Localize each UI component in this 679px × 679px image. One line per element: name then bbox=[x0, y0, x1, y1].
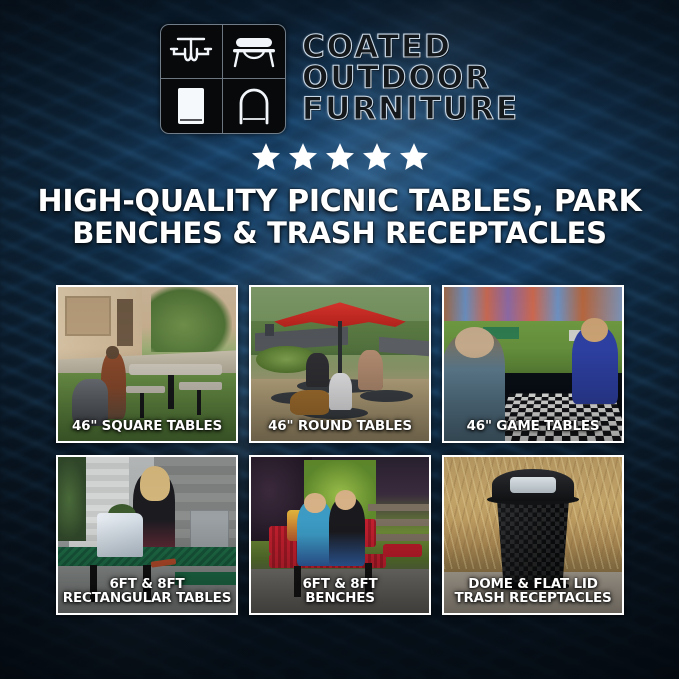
brand-wordmark: COATED OUTDOOR FURNITURE bbox=[302, 32, 519, 126]
product-tile-trash-receptacles[interactable]: DOME & FLAT LID TRASH RECEPTACLES bbox=[442, 455, 624, 615]
product-tile-square-tables[interactable]: 46" SQUARE TABLES bbox=[56, 285, 238, 443]
picnic-table-icon bbox=[161, 25, 223, 79]
bench-icon bbox=[223, 25, 285, 79]
banner-content: COATED OUTDOOR FURNITURE HIGH-QUALITY PI… bbox=[0, 0, 679, 679]
star-icon bbox=[289, 143, 317, 170]
star-icon bbox=[400, 143, 428, 170]
wordmark-line-2: OUTDOOR bbox=[302, 63, 519, 93]
product-tile-rectangular-tables[interactable]: 6FT & 8FT RECTANGULAR TABLES bbox=[56, 455, 238, 615]
star-icon bbox=[363, 143, 391, 170]
product-photo bbox=[251, 457, 429, 613]
trash-receptacle-icon bbox=[161, 79, 223, 133]
headline-line-2: BENCHES & TRASH RECEPTACLES bbox=[28, 218, 651, 249]
product-tile-round-tables[interactable]: 46" ROUND TABLES bbox=[249, 285, 431, 443]
promotional-banner: COATED OUTDOOR FURNITURE HIGH-QUALITY PI… bbox=[0, 0, 679, 679]
product-photo bbox=[444, 287, 622, 441]
product-photo bbox=[58, 457, 236, 613]
wordmark-line-3: FURNITURE bbox=[302, 94, 519, 124]
star-icon bbox=[326, 143, 354, 170]
star-rating bbox=[0, 136, 679, 176]
brand-logo: COATED OUTDOOR FURNITURE bbox=[0, 0, 679, 134]
headline: HIGH-QUALITY PICNIC TABLES, PARK BENCHES… bbox=[0, 186, 679, 249]
headline-line-1: HIGH-QUALITY PICNIC TABLES, PARK bbox=[28, 186, 651, 218]
product-tile-game-tables[interactable]: 46" GAME TABLES bbox=[442, 285, 624, 443]
product-photo bbox=[58, 287, 236, 441]
product-tile-grid: 46" SQUARE TABLES 46" ROUND TA bbox=[56, 285, 623, 615]
product-photo bbox=[251, 287, 429, 441]
wordmark-line-1: COATED bbox=[302, 32, 519, 62]
star-icon bbox=[252, 143, 280, 170]
logo-icon-grid bbox=[160, 24, 286, 134]
product-tile-benches[interactable]: 6FT & 8FT BENCHES bbox=[249, 455, 431, 615]
product-photo bbox=[444, 457, 622, 613]
bike-rack-icon bbox=[223, 79, 285, 133]
